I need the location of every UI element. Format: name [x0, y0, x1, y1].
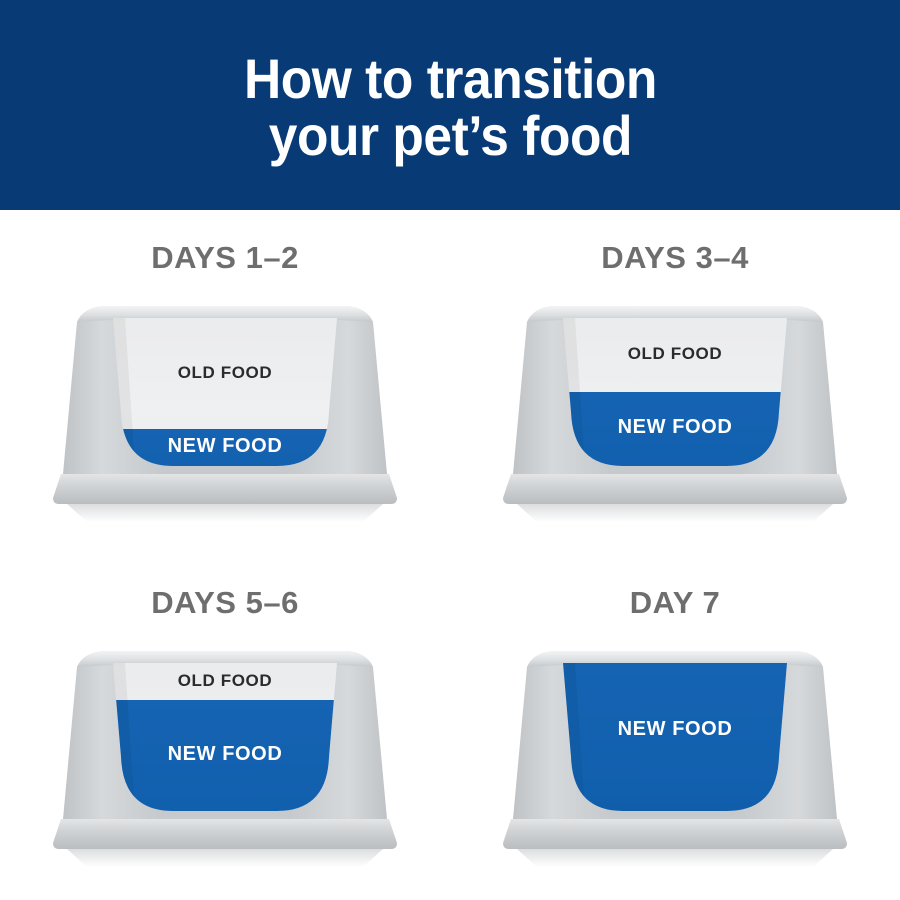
bowl-base	[53, 819, 397, 849]
step-card: DAYS 5–6	[0, 555, 450, 900]
food-bowl: OLD FOODNEW FOOD	[495, 288, 855, 533]
step-card: DAY 7	[450, 555, 900, 900]
step-label: DAY 7	[630, 585, 720, 621]
bowl-reflection	[517, 504, 833, 522]
bowl-graphic	[45, 633, 405, 878]
bowl-graphic	[45, 288, 405, 533]
transition-steps-grid: DAYS 1–2	[0, 210, 900, 900]
bowl-graphic	[495, 633, 855, 878]
food-bowl: OLD FOODNEW FOOD	[45, 633, 405, 878]
bowl-graphic	[495, 288, 855, 533]
bowl-base	[53, 474, 397, 504]
bowl-base	[503, 819, 847, 849]
food-bowl: OLD FOODNEW FOOD	[45, 288, 405, 533]
bowl-reflection	[67, 849, 383, 867]
step-label: DAYS 1–2	[151, 240, 299, 276]
page-title: How to transition your pet’s food	[244, 46, 657, 164]
food-bowl: NEW FOOD	[495, 633, 855, 878]
step-label: DAYS 5–6	[151, 585, 299, 621]
bowl-reflection	[517, 849, 833, 867]
step-label: DAYS 3–4	[601, 240, 749, 276]
page-header: How to transition your pet’s food	[0, 0, 900, 210]
step-card: DAYS 3–4	[450, 210, 900, 555]
bowl-reflection	[67, 504, 383, 522]
step-card: DAYS 1–2	[0, 210, 450, 555]
bowl-base	[503, 474, 847, 504]
